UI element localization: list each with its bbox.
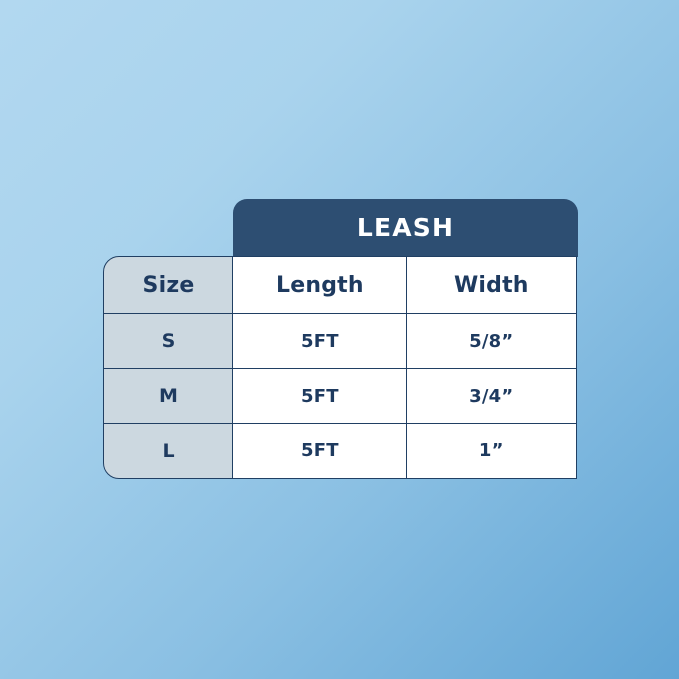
cell-width: 3/4” [406,368,577,425]
cell-length-value: 5FT [301,386,339,407]
cell-width: 1” [406,423,577,479]
column-header-size-label: Size [143,273,195,298]
cell-width: 5/8” [406,313,577,370]
cell-width-value: 3/4” [469,386,513,407]
table-row: L 5FT 1” [103,423,578,477]
column-header-size: Size [103,256,234,315]
cell-size-value: S [162,330,176,352]
cell-width-value: 5/8” [469,331,513,352]
table-header-row: Size Length Width [103,256,578,313]
column-header-width: Width [406,256,577,315]
cell-length-value: 5FT [301,331,339,352]
cell-length: 5FT [232,313,407,370]
cell-width-value: 1” [479,440,504,461]
cell-size: M [103,368,234,425]
cell-size-value: M [159,385,178,407]
cell-size: S [103,313,234,370]
size-chart-graphic: LEASH Size Length Width S 5FT 5/8” [0,0,679,679]
cell-length: 5FT [232,423,407,479]
table-row: M 5FT 3/4” [103,368,578,423]
table-title: LEASH [357,215,454,242]
table-row: S 5FT 5/8” [103,313,578,368]
cell-size: L [103,423,234,479]
cell-length-value: 5FT [301,440,339,461]
table-title-banner: LEASH [233,199,578,257]
column-header-length: Length [232,256,407,315]
cell-size-value: L [162,440,174,462]
cell-length: 5FT [232,368,407,425]
column-header-length-label: Length [276,273,364,298]
size-chart-table: Size Length Width S 5FT 5/8” M [103,256,578,477]
column-header-width-label: Width [454,273,529,298]
